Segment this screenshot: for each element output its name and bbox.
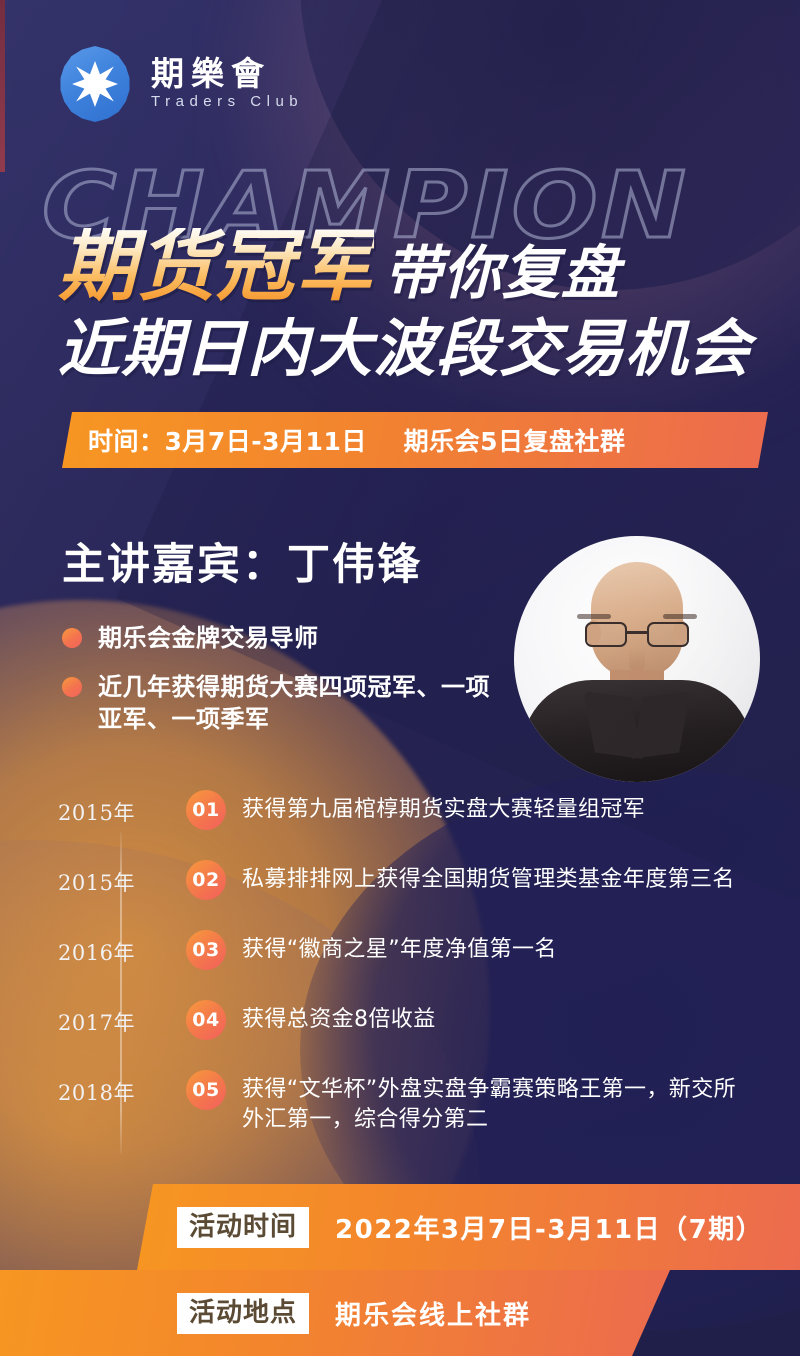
list-item: 近几年获得期货大赛四项冠军、一项亚军、一项季军 bbox=[62, 671, 512, 735]
speaker-credentials-list: 期乐会金牌交易导师 近几年获得期货大赛四项冠军、一项亚军、一项季军 bbox=[62, 622, 512, 735]
timeline-row: 2015年 02 私募排排网上获得全国期货管理类基金年度第三名 bbox=[58, 858, 758, 928]
credential-text: 期乐会金牌交易导师 bbox=[98, 622, 319, 654]
timeline-number-badge: 05 bbox=[186, 1070, 226, 1110]
credential-text: 近几年获得期货大赛四项冠军、一项亚军、一项季军 bbox=[98, 671, 512, 735]
event-time-value: 2022年3月7日-3月11日（7期） bbox=[335, 1209, 763, 1246]
eight-point-star-badge-icon bbox=[57, 46, 133, 122]
brand-logo: 期樂會 Traders Club bbox=[57, 46, 303, 122]
timeline-year: 2015年 bbox=[58, 788, 162, 827]
timeline-description: 获得“文华杯”外盘实盘争霸赛策略王第一，新交所外汇第一，综合得分第二 bbox=[242, 1068, 758, 1135]
time-banner-text: 时间：3月7日-3月11日 期乐会5日复盘社群 bbox=[62, 422, 626, 458]
speaker-portrait-avatar bbox=[514, 536, 760, 782]
timeline-description: 私募排排网上获得全国期货管理类基金年度第三名 bbox=[242, 858, 735, 895]
timeline-row: 2017年 04 获得总资金8倍收益 bbox=[58, 998, 758, 1068]
timeline-row: 2016年 03 获得“徽商之星”年度净值第一名 bbox=[58, 928, 758, 998]
portrait-shading bbox=[514, 536, 760, 782]
bullet-dot-icon bbox=[62, 677, 82, 697]
timeline-number-badge: 04 bbox=[186, 1000, 226, 1040]
headline-rest: 带你复盘 bbox=[384, 244, 620, 306]
timeline-number-badge: 02 bbox=[186, 860, 226, 900]
headline-highlight: 期货冠军 bbox=[58, 228, 374, 306]
event-place-bar: 活动地点 期乐会线上社群 bbox=[0, 1270, 670, 1356]
event-place-value: 期乐会线上社群 bbox=[335, 1295, 531, 1332]
event-time-label: 活动时间 bbox=[177, 1207, 309, 1248]
timeline-year: 2016年 bbox=[58, 928, 162, 967]
timeline-year: 2015年 bbox=[58, 858, 162, 897]
timeline-row: 2015年 01 获得第九届棺椁期货实盘大赛轻量组冠军 bbox=[58, 788, 758, 858]
list-item: 期乐会金牌交易导师 bbox=[62, 622, 512, 654]
poster-root: 期樂會 Traders Club CHAMPION 期货冠军 带你复盘 近期日内… bbox=[0, 0, 800, 1356]
bullet-dot-icon bbox=[62, 628, 82, 648]
event-time-bar: 活动时间 2022年3月7日-3月11日（7期） bbox=[137, 1184, 800, 1270]
timeline-number-badge: 01 bbox=[186, 790, 226, 830]
headline-line-1: 期货冠军 带你复盘 bbox=[58, 228, 778, 306]
timeline-year: 2017年 bbox=[58, 998, 162, 1037]
portrait-illustration bbox=[514, 536, 760, 782]
achievements-timeline: 2015年 01 获得第九届棺椁期货实盘大赛轻量组冠军 2015年 02 私募排… bbox=[58, 788, 758, 1138]
timeline-description: 获得“徽商之星”年度净值第一名 bbox=[242, 928, 557, 965]
speaker-title: 主讲嘉宾：丁伟锋 bbox=[62, 530, 422, 592]
time-banner: 时间：3月7日-3月11日 期乐会5日复盘社群 bbox=[62, 412, 768, 468]
timeline-description: 获得第九届棺椁期货实盘大赛轻量组冠军 bbox=[242, 788, 645, 825]
event-place-label: 活动地点 bbox=[177, 1293, 309, 1334]
headline-line-2: 近期日内大波段交易机会 bbox=[58, 318, 778, 380]
brand-text: 期樂會 Traders Club bbox=[151, 57, 303, 110]
brand-name-en: Traders Club bbox=[151, 94, 303, 111]
headline-block: 期货冠军 带你复盘 近期日内大波段交易机会 bbox=[58, 228, 778, 380]
timeline-number-badge: 03 bbox=[186, 930, 226, 970]
timeline-row: 2018年 05 获得“文华杯”外盘实盘争霸赛策略王第一，新交所外汇第一，综合得… bbox=[58, 1068, 758, 1138]
brand-name-cn: 期樂會 bbox=[151, 57, 303, 92]
timeline-year: 2018年 bbox=[58, 1068, 162, 1107]
timeline-description: 获得总资金8倍收益 bbox=[242, 998, 436, 1035]
